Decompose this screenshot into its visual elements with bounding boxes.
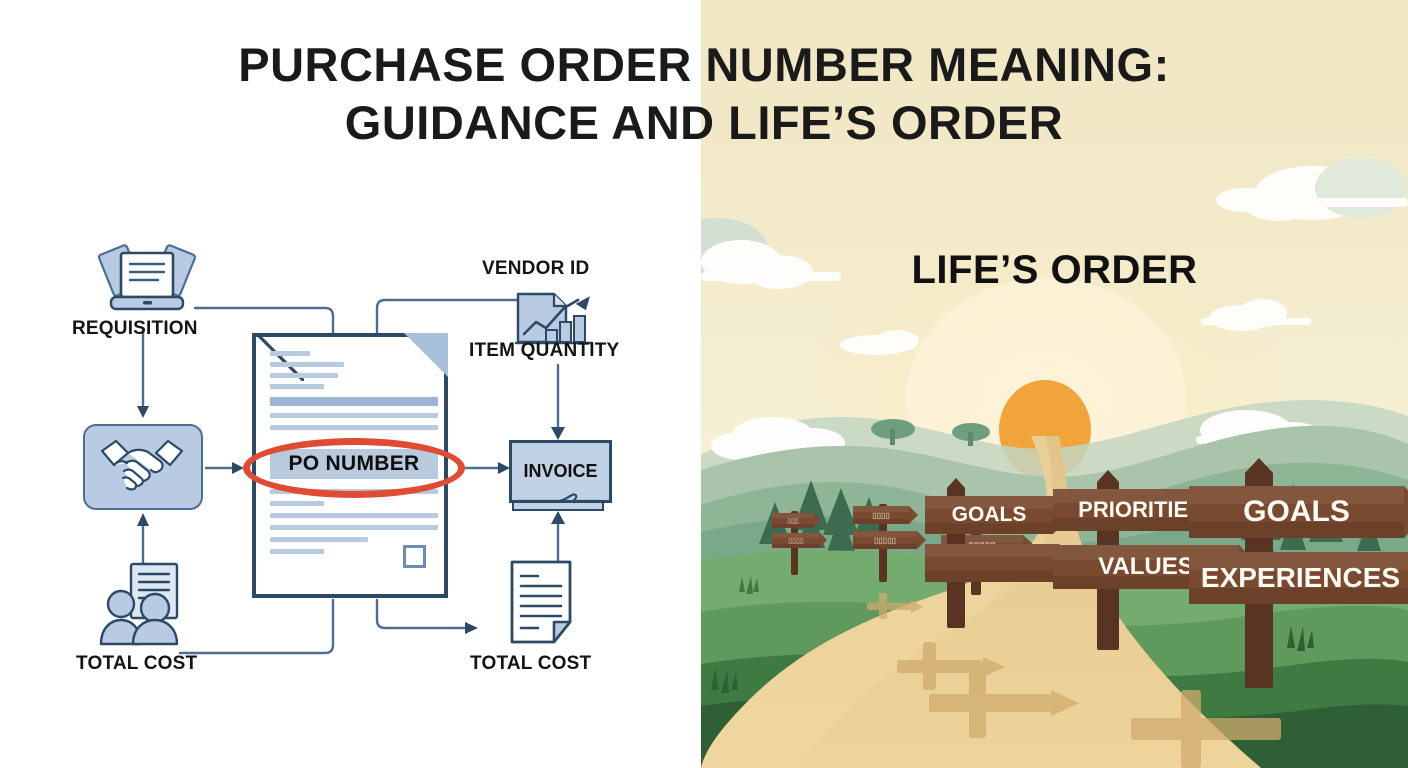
po-flow-diagram: REQUISITION VENDOR ID ITEM QUANTITY: [0, 0, 701, 768]
purchase-order-document: PO NUMBER: [252, 333, 448, 598]
label-total-cost-people: TOTAL COST: [76, 653, 197, 675]
doc-text-line: [270, 425, 438, 430]
signpost-plank: ▯▯▯▯: [853, 506, 909, 524]
signpost-goals-experiences: GOALS EXPERIENCES: [1189, 458, 1408, 688]
document-fold-icon: [506, 558, 576, 648]
right-panel-background: LIFE’S ORDER ▯▯▯ ▯▯▯▯: [701, 0, 1408, 768]
signpost-label: ▯▯▯▯: [853, 511, 909, 520]
label-vendor-id: VENDOR ID: [482, 258, 589, 280]
signpost-label: GOALS: [925, 503, 1053, 527]
doc-text-line: [270, 549, 324, 554]
page-fold-corner: [404, 333, 448, 377]
signpost-label: EXPERIENCES: [1189, 562, 1408, 594]
label-total-cost-document: TOTAL COST: [470, 653, 591, 675]
signpost-label: ▯▯▯▯▯: [853, 536, 917, 545]
doc-text-line: [270, 384, 324, 389]
signpost-cap: [1245, 458, 1273, 473]
signpost-far-2: ▯▯▯▯ ▯▯▯▯▯: [849, 498, 929, 582]
doc-text-line: [270, 525, 438, 530]
po-number-text: PO NUMBER: [288, 452, 419, 476]
doc-text-line: [270, 397, 438, 406]
doc-text-line: [270, 413, 438, 418]
signpost-label: ▯▯▯: [772, 517, 814, 525]
signpost-plank-experiences: EXPERIENCES: [1189, 552, 1408, 604]
doc-text-line: [270, 489, 438, 494]
signature-line-icon: [514, 487, 604, 509]
signpost-plank-goals: GOALS: [1189, 486, 1404, 538]
signpost-label: ▯▯▯▯: [772, 537, 820, 545]
signpost-plank: ▯▯▯▯: [772, 533, 820, 548]
infographic-canvas: LIFE’S ORDER ▯▯▯ ▯▯▯▯: [0, 0, 1408, 768]
doc-text-line: [270, 537, 368, 542]
signpost-plank: ▯▯▯: [772, 513, 814, 528]
laptop-documents-icon: [92, 236, 202, 328]
signpost-plank: ▯▯▯▯▯: [853, 531, 917, 549]
lifes-order-heading: LIFE’S ORDER: [701, 248, 1408, 293]
doc-text-line: [270, 501, 324, 506]
doc-text-line: [270, 351, 310, 356]
label-item-quantity: ITEM QUANTITY: [469, 340, 619, 362]
landscape-scene: LIFE’S ORDER ▯▯▯ ▯▯▯▯: [701, 0, 1408, 768]
label-requisition: REQUISITION: [72, 318, 198, 340]
signpost-label: GOALS: [1189, 495, 1404, 529]
people-document-icon: [99, 560, 191, 646]
po-number-field: PO NUMBER: [270, 449, 438, 479]
doc-text-line: [270, 373, 338, 378]
handshake-icon: [96, 437, 188, 495]
doc-stamp-box: [403, 545, 426, 568]
doc-text-line: [270, 362, 344, 367]
invoice-label: INVOICE: [523, 461, 597, 482]
signpost-far-1: ▯▯▯ ▯▯▯▯: [769, 505, 829, 575]
signpost-plank-blank: [925, 544, 1059, 582]
signpost-plank-goals: GOALS: [925, 496, 1053, 534]
doc-text-line: [270, 513, 438, 518]
